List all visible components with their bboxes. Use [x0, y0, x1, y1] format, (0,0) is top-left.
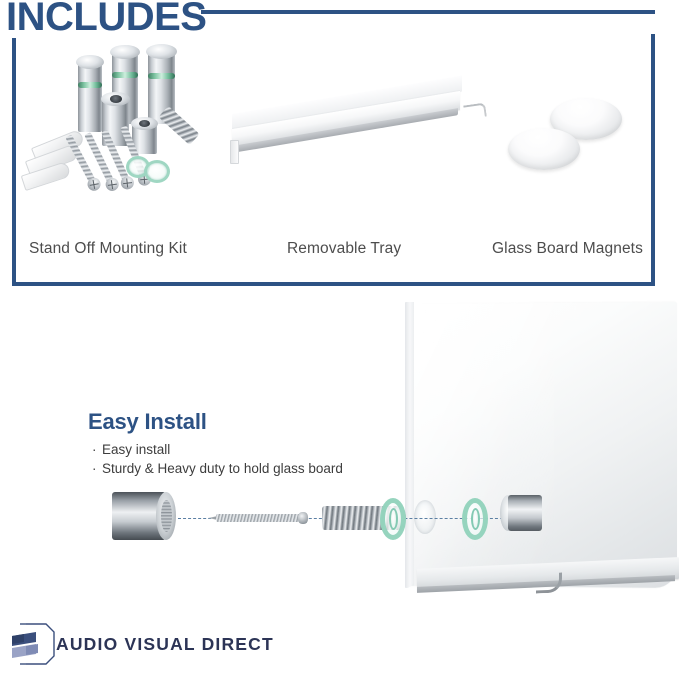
bullet-dot-icon: ·: [92, 459, 102, 478]
glass-whiteboard-panel: [410, 302, 677, 588]
standoff-cap-top: [146, 44, 177, 59]
glass-panel-mounting-hole: [414, 500, 436, 534]
dome-magnet: [508, 128, 580, 170]
easy-install-heading: Easy Install: [88, 409, 207, 435]
page-title: INCLUDES: [6, 0, 206, 38]
wood-screw-head: [298, 512, 308, 524]
item-label-glass-board-magnets: Glass Board Magnets: [492, 240, 643, 258]
standoff-cap-top: [76, 55, 104, 69]
glass-washer-part: [462, 498, 488, 540]
glass-washer-bore: [389, 508, 398, 530]
attached-tray-hook: [536, 573, 562, 594]
title-rule: [201, 10, 655, 14]
glass-board-magnets-illustration: [498, 98, 628, 178]
easy-install-bullet-list: ·Easy install ·Sturdy & Heavy duty to ho…: [92, 440, 343, 478]
threaded-bore: [139, 120, 150, 127]
exploded-assembly-diagram: [112, 488, 412, 550]
tray-end-cap: [230, 140, 239, 164]
brand-logo: AUDIO VISUAL DIRECT: [10, 620, 274, 668]
item-label-removable-tray: Removable Tray: [287, 240, 401, 258]
glass-washer: [144, 160, 170, 183]
standoff-kit-illustration: [22, 40, 227, 235]
bullet-dot-icon: ·: [92, 440, 102, 459]
standoff-gasket-band: [112, 72, 138, 78]
logo-wordmark: AUDIO VISUAL DIRECT: [56, 634, 274, 655]
product-infographic: INCLUDES: [0, 0, 679, 673]
removable-tray-illustration: [232, 100, 482, 180]
standoff-gasket-band: [78, 82, 102, 88]
item-label-standoff-kit: Stand Off Mounting Kit: [29, 240, 187, 258]
standoff-cap-part: [508, 495, 542, 531]
wood-screw-part: [216, 514, 302, 522]
standoff-gasket-band: [148, 73, 175, 79]
standoff-cap-top: [110, 45, 140, 59]
glass-washer-part: [380, 498, 406, 540]
list-item: ·Easy install: [92, 440, 343, 459]
list-item: ·Sturdy & Heavy duty to hold glass board: [92, 459, 343, 478]
list-item-text: Easy install: [102, 442, 170, 457]
glass-washer-bore: [471, 508, 480, 530]
logo-mark-icon: [10, 620, 56, 668]
list-item-text: Sturdy & Heavy duty to hold glass board: [102, 461, 343, 476]
threaded-bore: [110, 95, 122, 103]
threaded-bolt: [158, 106, 199, 145]
standoff-body: [78, 62, 102, 132]
standoff-sleeve-threaded-bore: [161, 500, 172, 532]
